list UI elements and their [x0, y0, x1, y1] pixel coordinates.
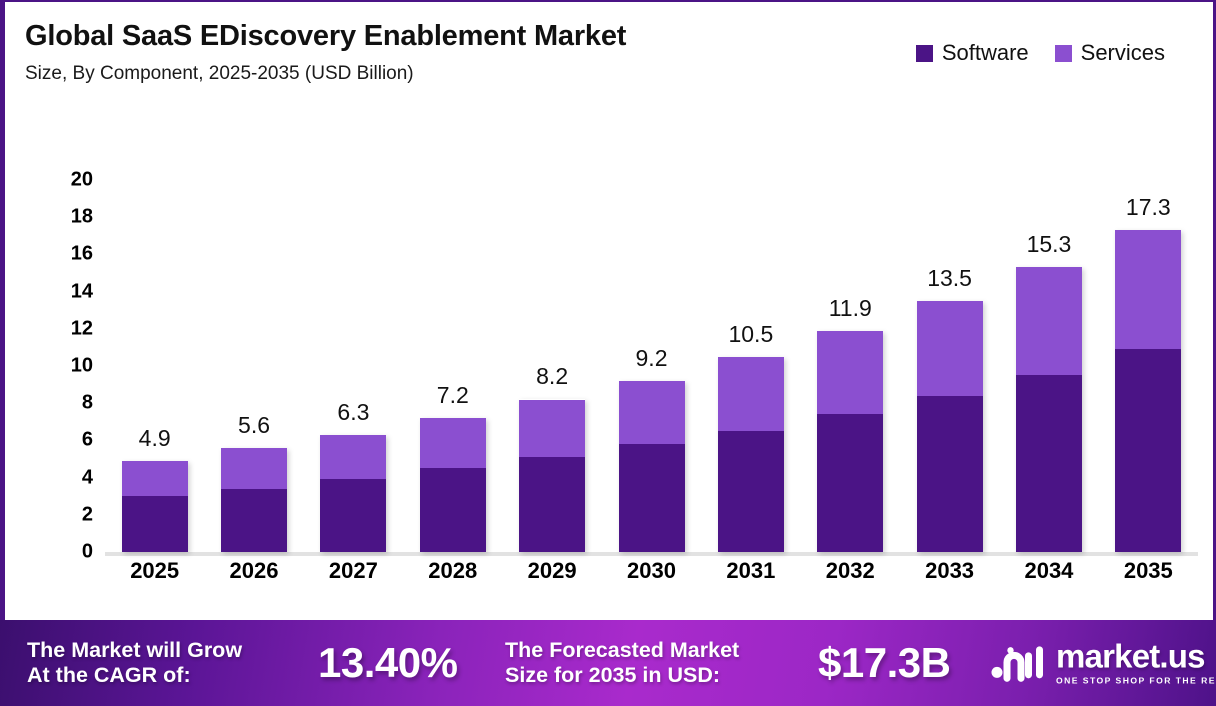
- bar-segment-services[interactable]: [320, 435, 386, 480]
- y-axis-tick: 8: [38, 392, 93, 415]
- bar-segment-software[interactable]: [320, 479, 386, 552]
- bar-segment-services[interactable]: [917, 301, 983, 396]
- bar-segment-services[interactable]: [420, 418, 486, 468]
- chart-legend: Software Services: [916, 40, 1165, 66]
- bar-stack[interactable]: [619, 381, 685, 552]
- bar-value-label: 15.3: [1027, 231, 1072, 258]
- forecast-value: $17.3B: [818, 639, 950, 687]
- bar-stack[interactable]: [519, 399, 585, 552]
- bar-group[interactable]: 11.9: [817, 180, 883, 552]
- bar-segment-software[interactable]: [718, 431, 784, 552]
- bar-group[interactable]: 6.3: [320, 180, 386, 552]
- y-axis-tick: 4: [38, 466, 93, 489]
- bar-value-label: 11.9: [829, 295, 872, 322]
- logo-name: market.us: [1056, 640, 1216, 672]
- bar-segment-services[interactable]: [122, 461, 188, 496]
- chart-infographic: Global SaaS EDiscovery Enablement Market…: [0, 0, 1216, 706]
- bar-segment-software[interactable]: [221, 489, 287, 552]
- bar-segment-software[interactable]: [122, 496, 188, 552]
- bar-value-label: 9.2: [636, 345, 668, 372]
- plot-area: 02468101214161820 4.95.66.37.28.29.210.5…: [38, 180, 1198, 552]
- legend-item-software[interactable]: Software: [916, 40, 1029, 66]
- y-axis-tick: 0: [38, 541, 93, 564]
- legend-swatch-services: [1055, 45, 1072, 62]
- x-axis-tick: 2027: [329, 558, 378, 584]
- x-axis-line: [105, 552, 1198, 556]
- bar-segment-software[interactable]: [519, 457, 585, 552]
- legend-label-software: Software: [942, 40, 1029, 66]
- y-axis-tick: 18: [38, 206, 93, 229]
- x-axis-labels: 2025202620272028202920302031203220332034…: [105, 558, 1198, 590]
- y-axis-tick: 6: [38, 429, 93, 452]
- bar-segment-software[interactable]: [917, 396, 983, 552]
- chart-title: Global SaaS EDiscovery Enablement Market: [25, 20, 626, 53]
- y-axis-tick: 16: [38, 243, 93, 266]
- x-axis-tick: 2029: [528, 558, 577, 584]
- bar-stack[interactable]: [420, 418, 486, 552]
- cagr-label: The Market will Grow At the CAGR of:: [27, 638, 242, 688]
- forecast-label: The Forecasted Market Size for 2035 in U…: [505, 638, 739, 688]
- y-axis-tick: 20: [38, 169, 93, 192]
- cagr-label-line1: The Market will Grow: [27, 638, 242, 663]
- bar-segment-services[interactable]: [519, 400, 585, 458]
- bar-stack[interactable]: [718, 357, 784, 552]
- logo-tagline: ONE STOP SHOP FOR THE REPORTS: [1056, 676, 1216, 686]
- bar-stack[interactable]: [221, 448, 287, 552]
- bar-value-label: 17.3: [1126, 194, 1171, 221]
- x-axis-tick: 2031: [726, 558, 775, 584]
- forecast-label-line1: The Forecasted Market: [505, 638, 739, 663]
- bar-segment-services[interactable]: [817, 331, 883, 415]
- bar-group[interactable]: 13.5: [917, 180, 983, 552]
- y-axis-tick: 14: [38, 280, 93, 303]
- bar-segment-software[interactable]: [817, 414, 883, 552]
- bars-container: 4.95.66.37.28.29.210.511.913.515.317.3: [105, 180, 1198, 552]
- bar-stack[interactable]: [122, 461, 188, 552]
- y-axis-tick: 2: [38, 503, 93, 526]
- footer-banner: The Market will Grow At the CAGR of: 13.…: [0, 620, 1216, 706]
- logo-mark-icon: [990, 642, 1046, 684]
- chart-subtitle: Size, By Component, 2025-2035 (USD Billi…: [25, 63, 626, 85]
- x-axis-tick: 2035: [1124, 558, 1173, 584]
- legend-swatch-software: [916, 45, 933, 62]
- bar-stack[interactable]: [1115, 230, 1181, 552]
- market-us-logo[interactable]: market.us ONE STOP SHOP FOR THE REPORTS: [990, 640, 1216, 685]
- bar-segment-software[interactable]: [1115, 349, 1181, 552]
- x-axis-tick: 2028: [428, 558, 477, 584]
- bar-group[interactable]: 10.5: [718, 180, 784, 552]
- bar-stack[interactable]: [917, 301, 983, 552]
- bar-stack[interactable]: [320, 435, 386, 552]
- bar-group[interactable]: 15.3: [1016, 180, 1082, 552]
- bar-value-label: 5.6: [238, 412, 270, 439]
- cagr-label-line2: At the CAGR of:: [27, 663, 242, 688]
- bar-group[interactable]: 5.6: [221, 180, 287, 552]
- bar-segment-software[interactable]: [619, 444, 685, 552]
- bar-group[interactable]: 9.2: [619, 180, 685, 552]
- bar-group[interactable]: 7.2: [420, 180, 486, 552]
- y-axis: 02468101214161820: [38, 180, 93, 552]
- bar-value-label: 13.5: [927, 265, 972, 292]
- bar-value-label: 4.9: [139, 425, 171, 452]
- bar-segment-services[interactable]: [619, 381, 685, 444]
- x-axis-tick: 2032: [826, 558, 875, 584]
- x-axis-tick: 2034: [1024, 558, 1073, 584]
- cagr-value: 13.40%: [318, 639, 457, 687]
- y-axis-tick: 10: [38, 355, 93, 378]
- bar-stack[interactable]: [817, 331, 883, 552]
- bar-segment-software[interactable]: [420, 468, 486, 552]
- bar-segment-services[interactable]: [1115, 230, 1181, 349]
- logo-text: market.us ONE STOP SHOP FOR THE REPORTS: [1056, 640, 1216, 685]
- x-axis-tick: 2026: [230, 558, 279, 584]
- bar-segment-software[interactable]: [1016, 375, 1082, 552]
- bar-segment-services[interactable]: [221, 448, 287, 489]
- x-axis-tick: 2025: [130, 558, 179, 584]
- bar-value-label: 8.2: [536, 363, 568, 390]
- bar-value-label: 6.3: [337, 399, 369, 426]
- bar-segment-services[interactable]: [1016, 267, 1082, 375]
- x-axis-tick: 2030: [627, 558, 676, 584]
- legend-item-services[interactable]: Services: [1055, 40, 1165, 66]
- forecast-label-line2: Size for 2035 in USD:: [505, 663, 739, 688]
- legend-label-services: Services: [1081, 40, 1165, 66]
- y-axis-tick: 12: [38, 317, 93, 340]
- bar-group[interactable]: 4.9: [122, 180, 188, 552]
- bar-group[interactable]: 17.3: [1115, 180, 1181, 552]
- header: Global SaaS EDiscovery Enablement Market…: [25, 20, 626, 85]
- bar-value-label: 10.5: [728, 321, 773, 348]
- bar-segment-services[interactable]: [718, 357, 784, 431]
- bar-stack[interactable]: [1016, 267, 1082, 552]
- bar-group[interactable]: 8.2: [519, 180, 585, 552]
- bar-value-label: 7.2: [437, 382, 469, 409]
- x-axis-tick: 2033: [925, 558, 974, 584]
